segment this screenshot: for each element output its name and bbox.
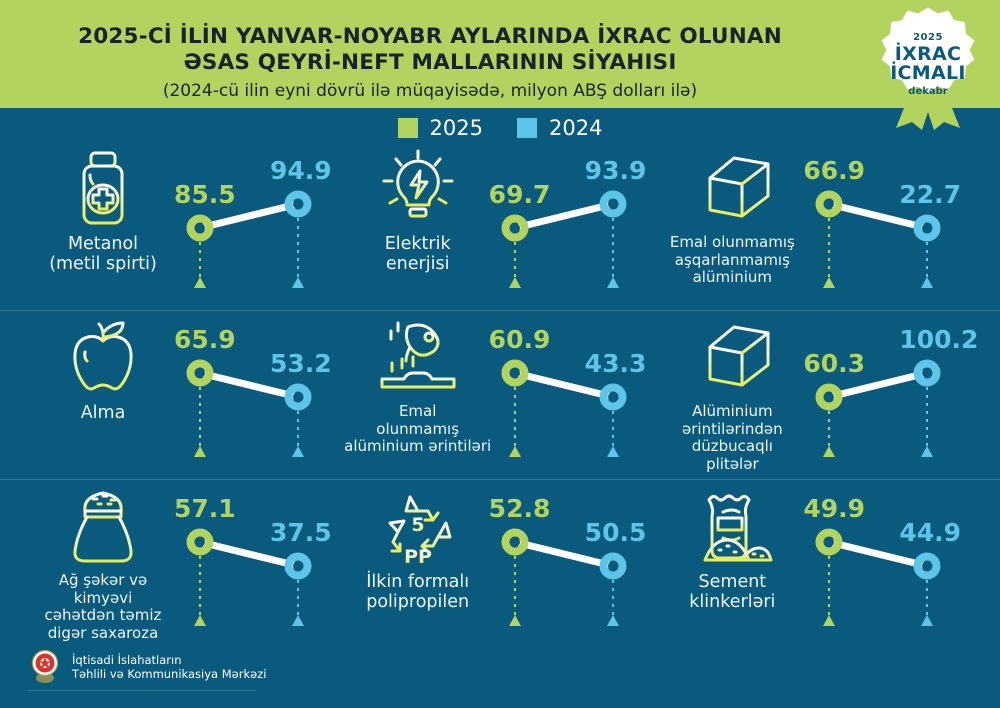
product-row: Ağ şəkər və kimyəvi cəhətdən təmiz digər… <box>0 479 1000 648</box>
product-label: Ağ şəkər və kimyəvi cəhətdən təmiz digər… <box>15 572 191 642</box>
product-cell[interactable]: Emal olunmamış aşqarlanmamış alüminium66… <box>657 142 972 310</box>
molten-metal-pour-icon <box>378 319 458 397</box>
comparison-plot: 57.137.5 <box>168 480 343 648</box>
product-info: Alüminium ərintilərindən düzbucaqlı plit… <box>657 311 807 479</box>
value-2024: 50.5 <box>585 518 647 547</box>
state-emblem-icon <box>28 648 62 686</box>
product-label: İlkin formalı polipropilen <box>330 572 506 612</box>
cement-bag-icon <box>691 488 773 566</box>
product-cell[interactable]: Elektrik enerjisi69.793.9 <box>343 142 658 310</box>
footer-line-1: İqtisadi İslahatların <box>72 653 266 667</box>
value-2025: 85.5 <box>174 180 236 209</box>
legend-item-2024[interactable]: 2024 <box>517 116 602 140</box>
apple-icon <box>67 319 139 397</box>
product-label: Alma <box>15 403 191 423</box>
value-2025: 60.3 <box>803 349 865 378</box>
footer-divider <box>28 690 256 691</box>
value-2024: 22.7 <box>899 180 961 209</box>
value-2025: 65.9 <box>174 325 236 354</box>
value-2025: 57.1 <box>174 494 236 523</box>
product-cell[interactable]: Alma65.953.2 <box>28 311 343 479</box>
footer-text: İqtisadi İslahatların Təhlili və Kommuni… <box>72 653 266 681</box>
comparison-plot: 69.793.9 <box>483 142 658 310</box>
legend-swatch-2025 <box>398 118 418 138</box>
value-2025: 60.9 <box>489 325 551 354</box>
value-2024: 94.9 <box>270 156 332 185</box>
value-2024: 100.2 <box>899 325 978 354</box>
medicine-bottle-icon <box>66 150 140 228</box>
product-cell[interactable]: Alüminium ərintilərindən düzbucaqlı plit… <box>657 311 972 479</box>
product-label: Sement klinkerləri <box>644 572 820 612</box>
product-label: Metanol (metil spirti) <box>15 234 191 274</box>
product-row: Alma65.953.2Emal olunmamış alüminium əri… <box>0 310 1000 479</box>
aluminium-ingot-icon <box>690 150 774 228</box>
svg-text:PP: PP <box>404 546 432 567</box>
recycle-pp-icon: 5PP <box>376 488 460 566</box>
product-info: Ağ şəkər və kimyəvi cəhətdən təmiz digər… <box>28 480 178 648</box>
product-label: Emal olunmamış alüminium ərintiləri <box>330 403 506 456</box>
product-cell[interactable]: Metanol (metil spirti)85.594.9 <box>28 142 343 310</box>
product-row-inner: Ağ şəkər və kimyəvi cəhətdən təmiz digər… <box>28 480 972 648</box>
product-info: Metanol (metil spirti) <box>28 142 178 310</box>
value-2024: 37.5 <box>270 518 332 547</box>
product-cell[interactable]: 5PPİlkin formalı polipropilen52.850.5 <box>343 480 658 648</box>
product-cell[interactable]: Emal olunmamış alüminium ərintiləri60.94… <box>343 311 658 479</box>
comparison-plot: 65.953.2 <box>168 311 343 479</box>
legend-item-2025[interactable]: 2025 <box>398 116 483 140</box>
badge-seal-icon <box>868 2 988 130</box>
comparison-plot: 60.943.3 <box>483 311 658 479</box>
value-2024: 53.2 <box>270 349 332 378</box>
product-info: Alma <box>28 311 178 479</box>
comparison-plot: 49.944.9 <box>797 480 972 648</box>
svg-text:5: 5 <box>411 514 424 536</box>
value-2025: 69.7 <box>489 180 551 209</box>
product-info: Emal olunmamış aşqarlanmamış alüminium <box>657 142 807 310</box>
product-row: Metanol (metil spirti)85.594.9Elektrik e… <box>0 142 1000 310</box>
title-line-1: 2025-Cİ İLİN YANVAR-NOYABR AYLARINDA İXR… <box>0 24 860 50</box>
value-2024: 93.9 <box>585 156 647 185</box>
product-label: Elektrik enerjisi <box>330 234 506 274</box>
value-2024: 44.9 <box>899 518 961 547</box>
chart-legend: 2025 2024 <box>0 116 1000 140</box>
page-title: 2025-Cİ İLİN YANVAR-NOYABR AYLARINDA İXR… <box>0 24 860 103</box>
product-cell[interactable]: Ağ şəkər və kimyəvi cəhətdən təmiz digər… <box>28 480 343 648</box>
legend-label-2025: 2025 <box>430 116 483 140</box>
footer-line-2: Təhlili və Kommunikasiya Mərkəzi <box>72 667 266 681</box>
comparison-plot: 52.850.5 <box>483 480 658 648</box>
lightbulb-energy-icon <box>376 150 460 228</box>
value-2025: 52.8 <box>489 494 551 523</box>
footer-org: İqtisadi İslahatların Təhlili və Kommuni… <box>28 648 266 686</box>
value-2025: 49.9 <box>803 494 865 523</box>
product-row-inner: Metanol (metil spirti)85.594.9Elektrik e… <box>28 142 972 310</box>
legend-label-2024: 2024 <box>549 116 602 140</box>
legend-swatch-2024 <box>517 118 537 138</box>
sugar-sack-icon <box>63 488 143 566</box>
comparison-plot: 85.594.9 <box>168 142 343 310</box>
product-info: Sement klinkerləri <box>657 480 807 648</box>
aluminium-slab-icon <box>690 319 774 397</box>
product-info: Emal olunmamış alüminium ərintiləri <box>343 311 493 479</box>
product-label: Emal olunmamış aşqarlanmamış alüminium <box>644 234 820 287</box>
product-cell[interactable]: Sement klinkerləri49.944.9 <box>657 480 972 648</box>
header-banner: 2025-Cİ İLİN YANVAR-NOYABR AYLARINDA İXR… <box>0 0 1000 108</box>
product-info: Elektrik enerjisi <box>343 142 493 310</box>
title-line-2: ƏSAS QEYRİ-NEFT MALLARININ SİYAHISI <box>0 50 860 76</box>
product-label: Alüminium ərintilərindən düzbucaqlı plit… <box>644 403 820 473</box>
export-review-badge: 2025 İXRAC İCMALI dekabr <box>868 2 988 130</box>
comparison-plot: 66.922.7 <box>797 142 972 310</box>
product-info: 5PPİlkin formalı polipropilen <box>343 480 493 648</box>
title-subtitle: (2024-cü ilin eyni dövrü ilə müqayisədə,… <box>0 79 860 103</box>
product-row-inner: Alma65.953.2Emal olunmamış alüminium əri… <box>28 311 972 479</box>
value-2025: 66.9 <box>803 156 865 185</box>
value-2024: 43.3 <box>585 349 647 378</box>
product-grid: Metanol (metil spirti)85.594.9Elektrik e… <box>0 142 1000 648</box>
comparison-plot: 60.3100.2 <box>797 311 972 479</box>
